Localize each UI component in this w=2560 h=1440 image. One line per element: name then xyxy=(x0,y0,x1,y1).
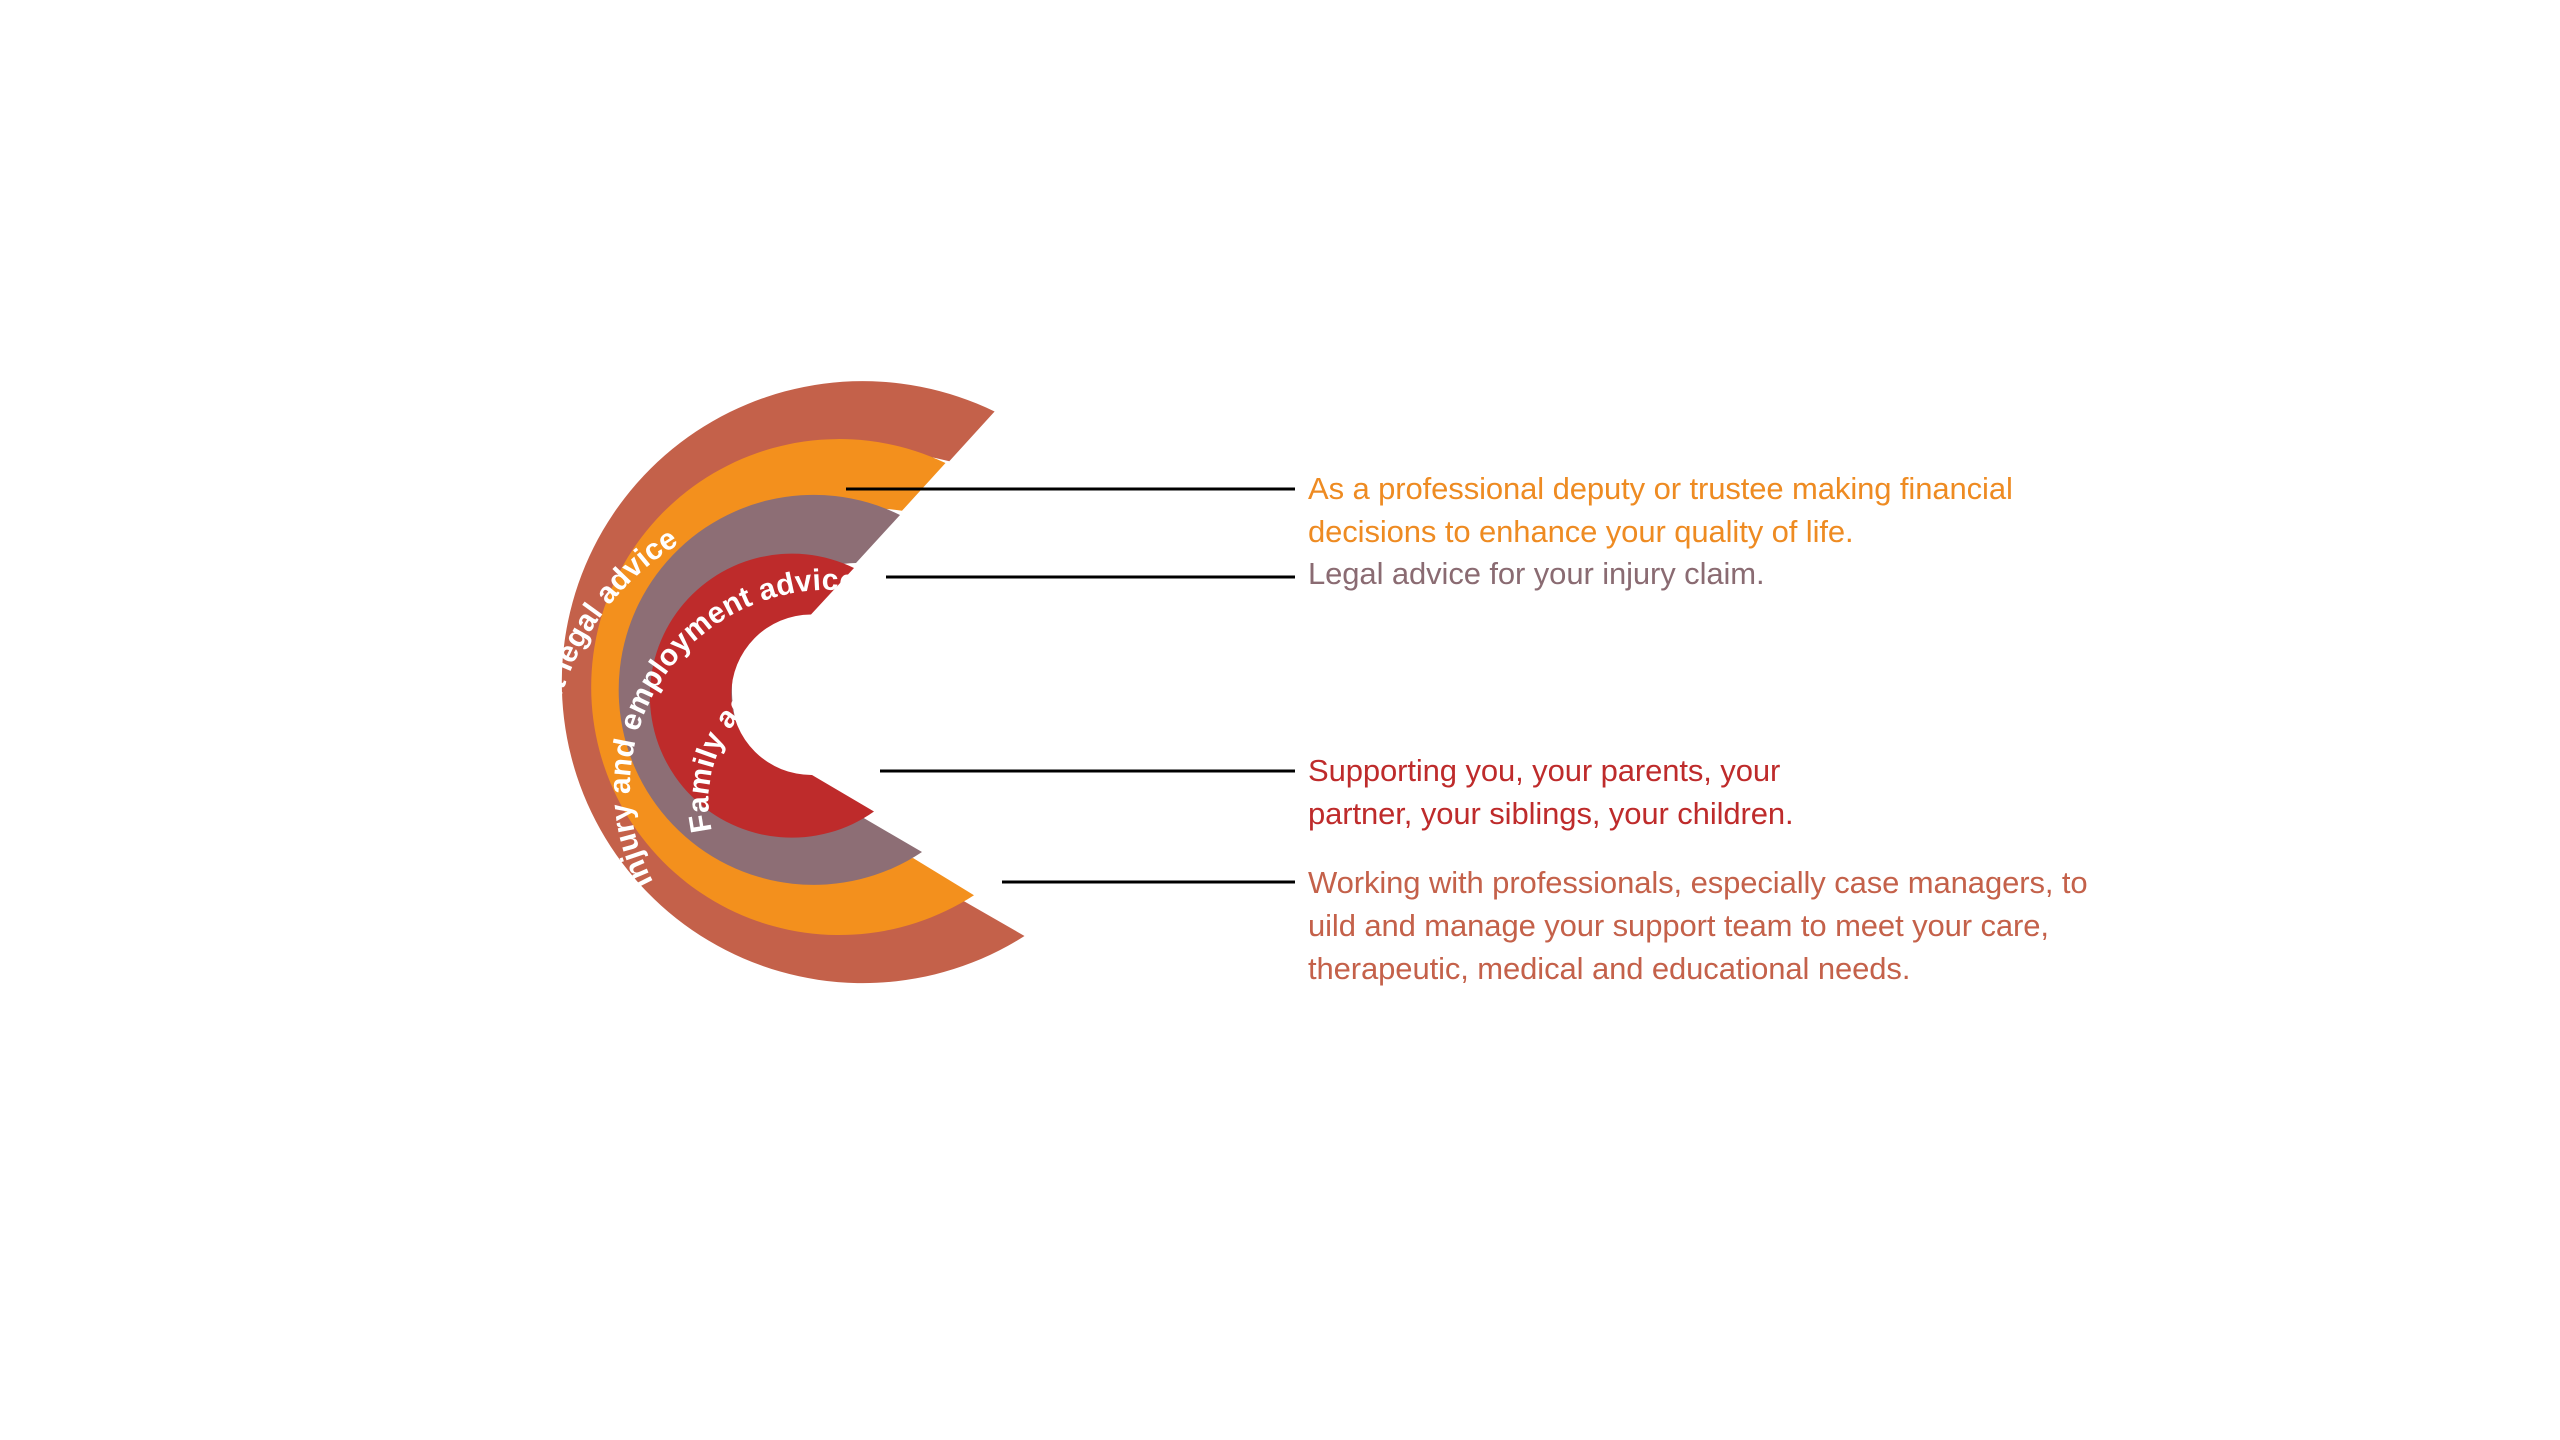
radial-diagram: Building your support team Post settleme… xyxy=(0,0,2560,1440)
callout-post-settlement-legal-advice: As a professional deputy or trustee maki… xyxy=(1308,468,2108,554)
callout-family-advice: Supporting you, your parents, your partn… xyxy=(1308,750,1948,836)
diagram-canvas: Building your support team Post settleme… xyxy=(0,0,2560,1440)
callout-injury-employment-advice: Legal advice for your injury claim. xyxy=(1308,553,2108,596)
callout-building-support-team: Working with professionals, especially c… xyxy=(1308,862,2138,990)
